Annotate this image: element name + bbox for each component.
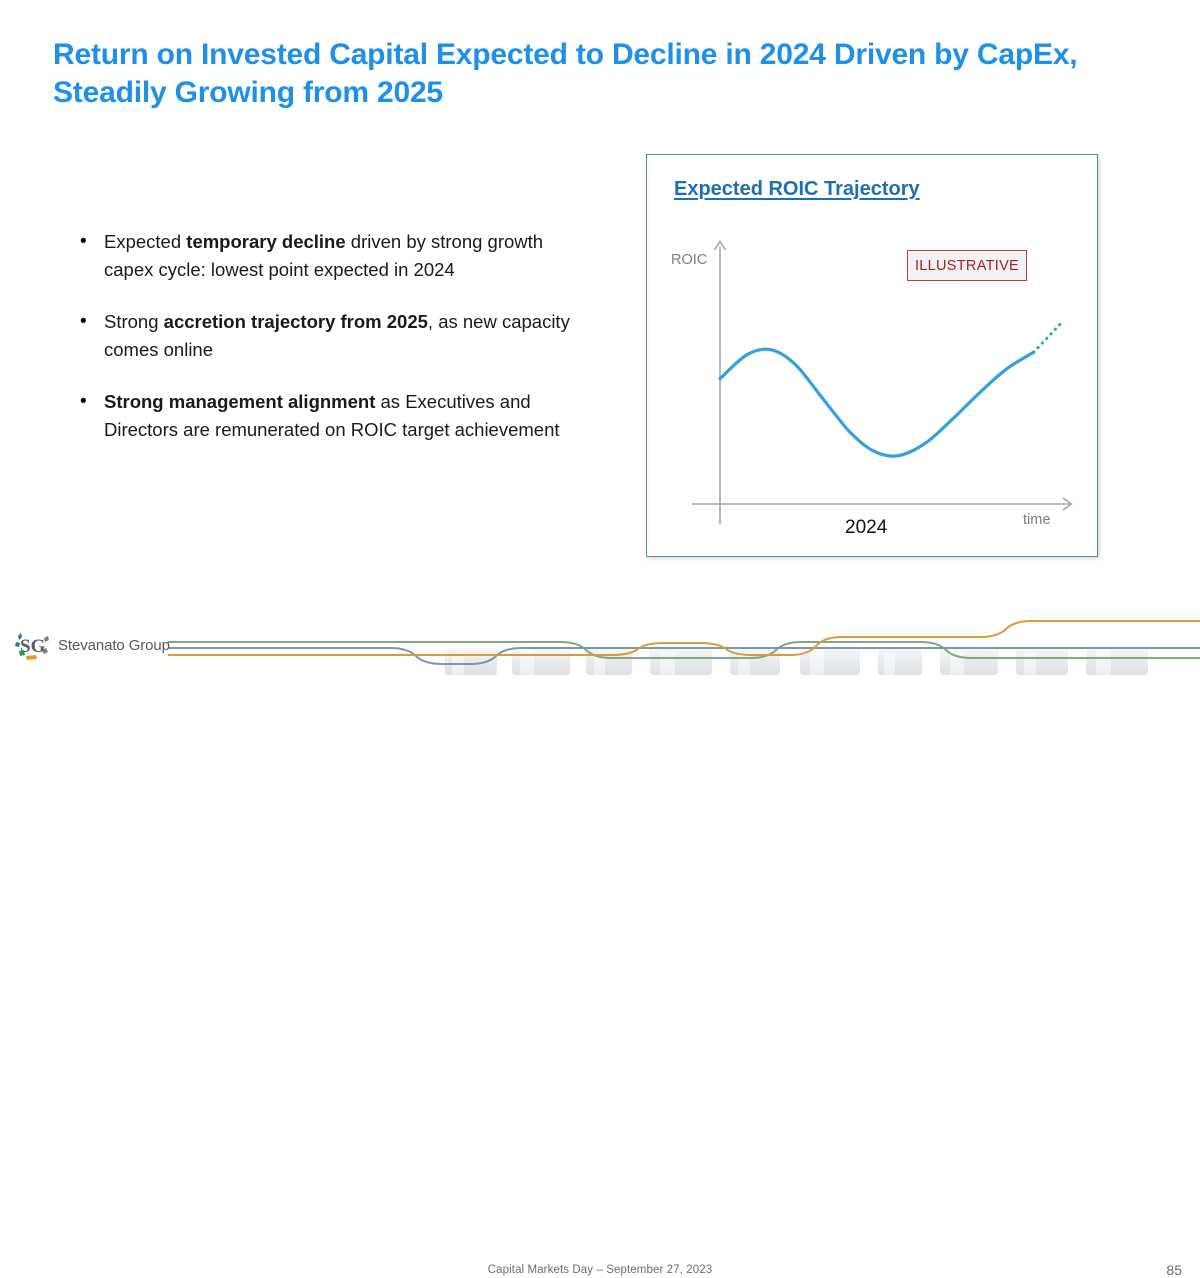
bullet-marker-icon: • <box>74 228 104 256</box>
footer-decoration <box>0 612 1200 675</box>
list-item-text: Strong accretion trajectory from 2025, a… <box>104 308 594 364</box>
roic-curve-solid <box>720 349 1034 456</box>
footer-note: Capital Markets Day – September 27, 2023 <box>0 1264 1200 1276</box>
bullet-marker-icon: • <box>74 388 104 416</box>
list-item-text: Expected temporary decline driven by str… <box>104 228 594 284</box>
roic-curve-projected <box>1034 323 1061 352</box>
emphasis-text: Strong management alignment <box>104 391 375 412</box>
stevanato-logo-icon: SG <box>14 630 52 660</box>
brand-name: Stevanato Group <box>58 637 170 654</box>
slide-footer: SG Stevanato Group Capital Markets Day –… <box>0 612 1200 675</box>
bullet-list: • Expected temporary decline driven by s… <box>74 228 594 444</box>
page-number: 85 <box>1166 1262 1182 1278</box>
chart-panel: Expected ROIC Trajectory ILLUSTRATIVE RO… <box>646 154 1098 557</box>
emphasis-text: temporary decline <box>186 231 345 252</box>
bullet-marker-icon: • <box>74 308 104 336</box>
list-item: • Expected temporary decline driven by s… <box>74 228 594 284</box>
plain-text: Strong <box>104 311 164 332</box>
roic-trajectory-plot <box>647 155 1099 558</box>
emphasis-text: accretion trajectory from 2025 <box>164 311 428 332</box>
plain-text: Expected <box>104 231 186 252</box>
list-item: • Strong accretion trajectory from 2025,… <box>74 308 594 364</box>
list-item-text: Strong management alignment as Executive… <box>104 388 594 444</box>
list-item: • Strong management alignment as Executi… <box>74 388 594 444</box>
brand-lockup: SG Stevanato Group <box>14 630 170 660</box>
page-title: Return on Invested Capital Expected to D… <box>53 36 1083 112</box>
